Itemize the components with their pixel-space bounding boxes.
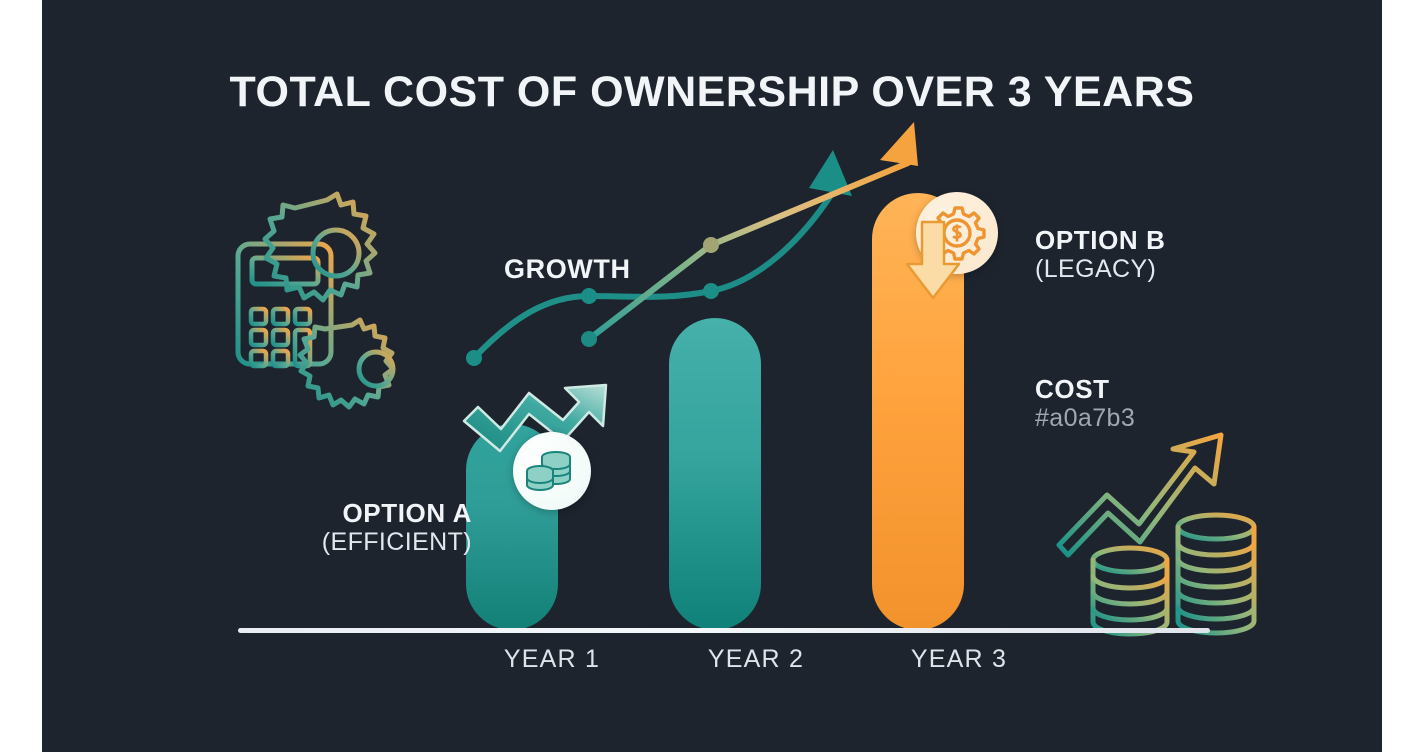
annotation-option-b: OPTION B (LEGACY) <box>1035 225 1165 284</box>
axis-tick-year-3: YEAR 3 <box>859 645 1059 674</box>
annotation-cost-hex: #a0a7b3 <box>1035 404 1135 433</box>
bar-year-2 <box>669 318 761 630</box>
annotation-option-a: OPTION A (EFFICIENT) <box>192 498 472 557</box>
data-point <box>581 288 597 304</box>
coins-badge <box>513 432 591 510</box>
axis-tick-year-1: YEAR 1 <box>452 645 652 674</box>
axis-line <box>238 628 1210 633</box>
gear-dollar-badge <box>916 192 998 274</box>
annotation-growth: GROWTH <box>504 254 631 285</box>
cost-arrowhead <box>880 122 918 166</box>
data-point <box>466 350 482 366</box>
annotation-growth-text: GROWTH <box>504 254 631 285</box>
annotation-option-b-head: OPTION B <box>1035 225 1165 255</box>
growth-arrowhead <box>809 150 852 196</box>
dark-panel: TOTAL COST OF OWNERSHIP OVER 3 YEARS <box>42 0 1382 752</box>
page-title: TOTAL COST OF OWNERSHIP OVER 3 YEARS <box>42 68 1382 117</box>
data-point <box>703 237 719 253</box>
gear-dollar-down-arrow-icon <box>926 202 988 264</box>
data-point <box>703 283 719 299</box>
annotation-option-b-sub: (LEGACY) <box>1035 255 1165 284</box>
cost-escalation-line <box>589 163 908 339</box>
annotation-option-a-sub: (EFFICIENT) <box>192 528 472 557</box>
annotation-cost-head: COST <box>1035 374 1135 404</box>
annotation-option-a-head: OPTION A <box>192 498 472 528</box>
data-point <box>581 331 597 347</box>
infographic-canvas: TOTAL COST OF OWNERSHIP OVER 3 YEARS <box>0 0 1424 752</box>
coin-stack-icon <box>524 446 580 496</box>
annotation-cost: COST #a0a7b3 <box>1035 374 1135 433</box>
axis-tick-year-2: YEAR 2 <box>656 645 856 674</box>
